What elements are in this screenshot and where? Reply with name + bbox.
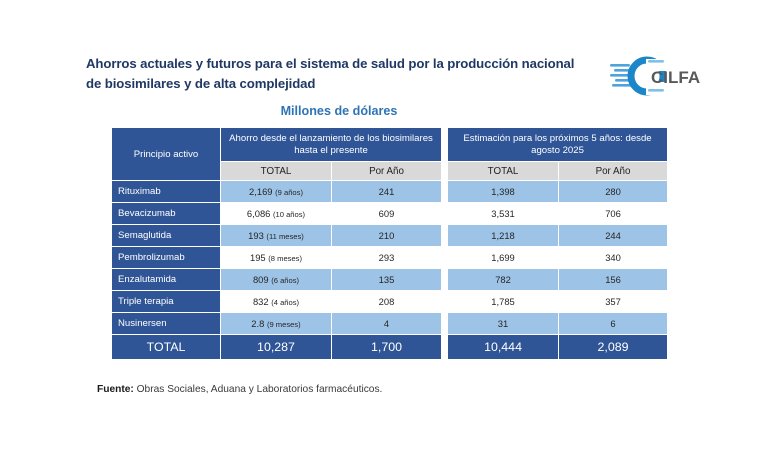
cell-actual-poranio: 4 <box>332 313 441 334</box>
table-row: Semaglutida193 (11 meses)2101,218244 <box>112 225 667 246</box>
cell-value: 193 <box>248 230 264 241</box>
row-label: Rituximab <box>112 181 220 202</box>
page-title: Ahorros actuales y futuros para el siste… <box>86 54 586 94</box>
row-label: Bevacizumab <box>112 203 220 224</box>
table-foot: TOTAL 10,287 1,700 10,444 2,089 <box>112 335 667 359</box>
cell-futuro-poranio: 706 <box>559 203 667 224</box>
cell-futuro-poranio: 280 <box>559 181 667 202</box>
cell-futuro-total: 31 <box>448 313 558 334</box>
source-label: Fuente: <box>97 384 134 395</box>
total-futuro-total: 10,444 <box>448 335 558 359</box>
source-note: Fuente: Obras Sociales, Aduana y Laborat… <box>97 384 382 395</box>
cell-period-note: (9 años) <box>275 188 303 197</box>
total-actual-poranio: 1,700 <box>332 335 441 359</box>
cell-futuro-total: 3,531 <box>448 203 558 224</box>
logo-wordmark: CILFA <box>651 68 700 87</box>
table-row: Enzalutamida809 (6 años)135782156 <box>112 269 667 290</box>
chart-subtitle: Millones de dólares <box>0 104 768 118</box>
subheader-total-actual: TOTAL <box>221 162 331 180</box>
table-group-header-row: Principio activo Ahorro desde el lanzami… <box>112 128 667 161</box>
row-label: Semaglutida <box>112 225 220 246</box>
table-row: Bevacizumab6,086 (10 años)6093,531706 <box>112 203 667 224</box>
section-gap <box>442 203 447 224</box>
table-row: Pembrolizumab195 (8 meses)2931,699340 <box>112 247 667 268</box>
table-total-row: TOTAL 10,287 1,700 10,444 2,089 <box>112 335 667 359</box>
cell-period-note: (10 años) <box>273 210 305 219</box>
cell-period-note: (11 meses) <box>266 232 303 241</box>
cell-actual-total: 2,169 (9 años) <box>221 181 331 202</box>
section-gap <box>442 128 447 180</box>
section-gap <box>442 313 447 334</box>
cell-actual-poranio: 208 <box>332 291 441 312</box>
total-row-label: TOTAL <box>112 335 220 359</box>
table-row: Rituximab2,169 (9 años)2411,398280 <box>112 181 667 202</box>
cell-futuro-poranio: 340 <box>559 247 667 268</box>
page-header: Ahorros actuales y futuros para el siste… <box>0 0 768 100</box>
section-gap <box>442 225 447 246</box>
cell-actual-poranio: 135 <box>332 269 441 290</box>
col-header-principio-activo: Principio activo <box>112 128 220 180</box>
savings-table-container: Principio activo Ahorro desde el lanzami… <box>111 127 661 360</box>
cell-actual-poranio: 210 <box>332 225 441 246</box>
cell-value: 832 <box>253 296 269 307</box>
table-row: Nusinersen2.8 (9 meses)4316 <box>112 313 667 334</box>
cell-actual-total: 809 (6 años) <box>221 269 331 290</box>
cell-futuro-total: 1,218 <box>448 225 558 246</box>
cell-actual-total: 6,086 (10 años) <box>221 203 331 224</box>
cell-futuro-total: 1,699 <box>448 247 558 268</box>
savings-table: Principio activo Ahorro desde el lanzami… <box>111 127 668 360</box>
source-text: Obras Sociales, Aduana y Laboratorios fa… <box>134 384 383 395</box>
cell-value: 2,169 <box>249 186 272 197</box>
table-body: Rituximab2,169 (9 años)2411,398280Bevaci… <box>112 181 667 334</box>
cell-futuro-total: 1,785 <box>448 291 558 312</box>
cell-actual-poranio: 293 <box>332 247 441 268</box>
cell-futuro-poranio: 6 <box>559 313 667 334</box>
cell-value: 2.8 <box>251 318 264 329</box>
cell-actual-poranio: 609 <box>332 203 441 224</box>
cell-futuro-total: 782 <box>448 269 558 290</box>
cell-actual-poranio: 241 <box>332 181 441 202</box>
subheader-poranio-futuro: Por Año <box>559 162 667 180</box>
cell-period-note: (8 meses) <box>268 254 302 263</box>
group-header-estimacion-futura: Estimación para los próximos 5 años: des… <box>448 128 667 161</box>
total-futuro-poranio: 2,089 <box>559 335 667 359</box>
cell-period-note: (4 años) <box>271 298 299 307</box>
table-head: Principio activo Ahorro desde el lanzami… <box>112 128 667 180</box>
row-label: Pembrolizumab <box>112 247 220 268</box>
section-gap <box>442 269 447 290</box>
cell-value: 809 <box>253 274 269 285</box>
cell-actual-total: 2.8 (9 meses) <box>221 313 331 334</box>
section-gap-total <box>442 335 447 359</box>
row-label: Triple terapia <box>112 291 220 312</box>
cell-futuro-poranio: 357 <box>559 291 667 312</box>
cell-actual-total: 195 (8 meses) <box>221 247 331 268</box>
row-label: Nusinersen <box>112 313 220 334</box>
cilfa-logo: CILFA <box>610 56 702 98</box>
section-gap <box>442 247 447 268</box>
table-row: Triple terapia832 (4 años)2081,785357 <box>112 291 667 312</box>
section-gap <box>442 181 447 202</box>
cell-value: 6,086 <box>247 208 270 219</box>
cell-period-note: (6 años) <box>271 276 299 285</box>
cell-actual-total: 193 (11 meses) <box>221 225 331 246</box>
cell-futuro-poranio: 244 <box>559 225 667 246</box>
cell-futuro-poranio: 156 <box>559 269 667 290</box>
cell-period-note: (9 meses) <box>267 320 301 329</box>
section-gap <box>442 291 447 312</box>
cell-value: 195 <box>250 252 266 263</box>
cell-actual-total: 832 (4 años) <box>221 291 331 312</box>
row-label: Enzalutamida <box>112 269 220 290</box>
group-header-ahorro-actual: Ahorro desde el lanzamiento de los biosi… <box>221 128 441 161</box>
subheader-total-futuro: TOTAL <box>448 162 558 180</box>
total-actual-total: 10,287 <box>221 335 331 359</box>
subheader-poranio-actual: Por Año <box>332 162 441 180</box>
cell-futuro-total: 1,398 <box>448 181 558 202</box>
